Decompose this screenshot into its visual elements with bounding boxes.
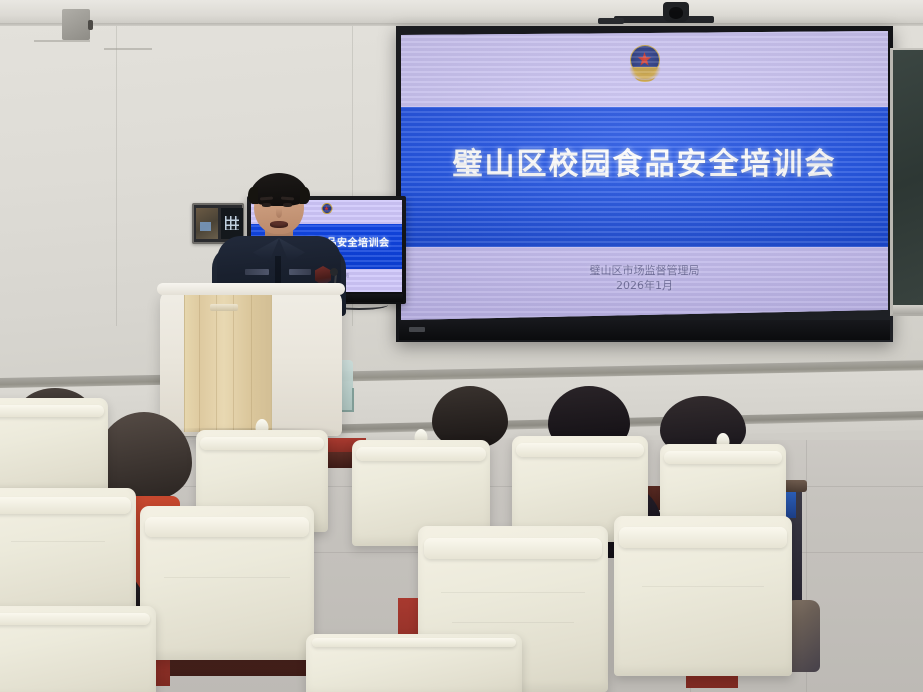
wall-seam [116, 26, 117, 326]
chair [306, 634, 522, 692]
attendee-head [432, 386, 508, 448]
presentation-slide: 璧山区校园食品安全培训会 璧山区市场监督管理局 2026年1月 [401, 31, 888, 320]
slide-organization: 璧山区市场监督管理局 [401, 263, 888, 278]
presenter-hair [250, 173, 308, 206]
presenter-nose [276, 208, 282, 218]
display-brand-mark [409, 327, 425, 332]
wall-hairline [34, 40, 90, 42]
chair [0, 606, 156, 692]
whiteboard-tray [893, 305, 923, 314]
slide-title: 璧山区校园食品安全培训会 [401, 139, 888, 183]
presenter-mouth [270, 221, 288, 228]
side-whiteboard [890, 48, 923, 316]
main-display[interactable]: 璧山区校园食品安全培训会 璧山区市场监督管理局 2026年1月 [396, 26, 893, 342]
chair [140, 506, 314, 660]
podium-top-edge [157, 283, 345, 295]
wall-hairline [104, 48, 152, 50]
chair [614, 516, 792, 676]
slide-date: 2026年1月 [401, 278, 888, 293]
display-lower-bezel [399, 320, 890, 340]
ceiling-camera-bracket [598, 18, 624, 24]
podium-wood-panel [184, 292, 272, 432]
chair [0, 398, 108, 494]
presenter-eye-right [283, 203, 292, 207]
ceiling-camera-icon [663, 2, 689, 22]
chair [0, 488, 136, 620]
slide-subtitle: 璧山区市场监督管理局 2026年1月 [401, 263, 888, 293]
presenter-chest-patch-left [245, 269, 269, 275]
podium [160, 288, 342, 436]
presenter-chest-patch-right [289, 269, 311, 275]
wall-speaker-box [62, 9, 90, 40]
microphone-icon [330, 268, 338, 276]
podium-plaque [210, 304, 238, 311]
presenter-eye-left [262, 203, 271, 207]
conference-room-photo: 璧山区校园食品安全培训会 璧山区市场监督管理局 2026年1月 璧山区校园食品安… [0, 0, 923, 692]
display-screen: 璧山区校园食品安全培训会 璧山区市场监督管理局 2026年1月 [401, 31, 888, 320]
market-supervision-emblem-icon [626, 43, 664, 85]
